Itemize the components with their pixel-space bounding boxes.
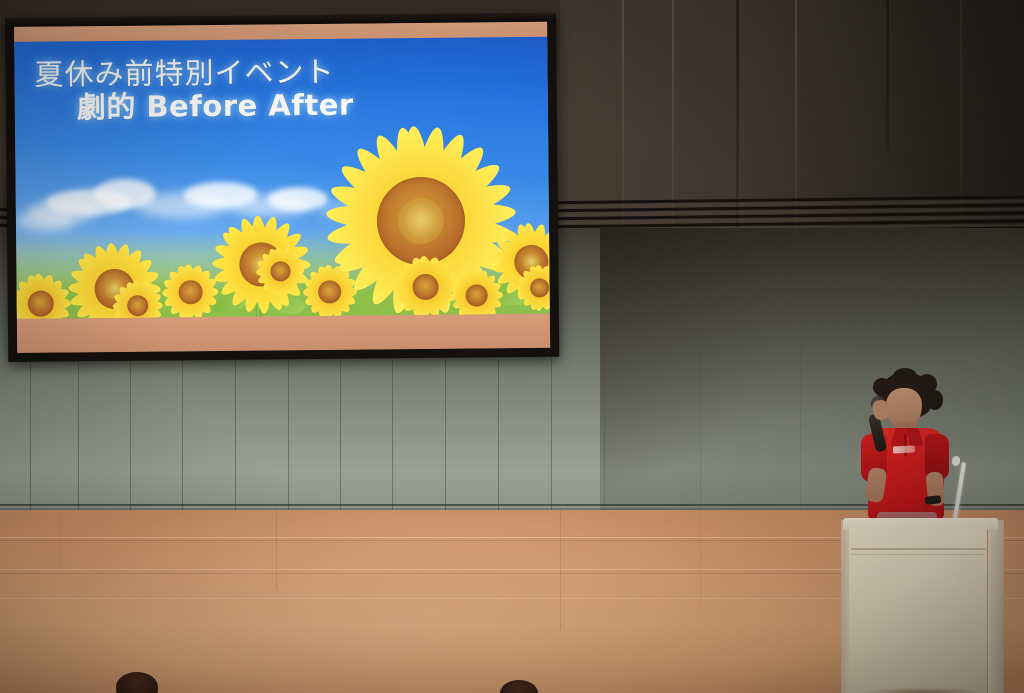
- presenter-wristwatch: [925, 495, 942, 505]
- sunflower-small: [14, 273, 71, 319]
- wall-seam: [235, 360, 236, 510]
- wall-seam: [340, 360, 341, 510]
- wall-seam: [622, 0, 624, 232]
- slide-title-block: 夏休み前特別イベント 劇的 Before After: [14, 55, 548, 126]
- sunflower-small: [302, 265, 357, 319]
- sunflower-small: [516, 265, 549, 311]
- hair-curl: [893, 368, 917, 384]
- presenter-shirt-logo: [893, 445, 915, 453]
- slide-bottom-band: [17, 314, 550, 353]
- sunflower-small: [162, 264, 219, 319]
- wall-seam: [78, 360, 79, 510]
- wall-seam: [288, 360, 289, 510]
- screen-image-area: 夏休み前特別イベント 劇的 Before After: [14, 22, 550, 353]
- stage-scene: 夏休み前特別イベント 劇的 Before After: [0, 0, 1024, 693]
- hair-curl: [873, 378, 891, 396]
- podium-shadow: [841, 687, 1004, 693]
- wall-seam: [604, 260, 605, 510]
- wall-seam: [498, 360, 499, 510]
- wall-seam: [700, 250, 701, 510]
- sunflower-small: [113, 280, 163, 318]
- sunflower-small: [394, 256, 457, 319]
- wall-seam: [795, 0, 797, 232]
- wall-seam: [886, 0, 889, 150]
- wall-seam: [130, 360, 131, 510]
- sunflower-disc-center: [398, 198, 444, 244]
- slide-title-line-1: 夏休み前特別イベント: [14, 55, 547, 91]
- wall-seam: [800, 250, 801, 510]
- sunflower-small: [450, 269, 502, 319]
- wall-seam: [736, 0, 739, 232]
- wall-seam: [672, 0, 674, 232]
- podium-groove: [851, 554, 985, 555]
- wall-seam: [392, 360, 393, 510]
- slide-title-line-2: 劇的 Before After: [15, 86, 548, 126]
- podium[interactable]: [841, 514, 1004, 693]
- podium-side-right: [988, 520, 1004, 693]
- projection-screen[interactable]: 夏休み前特別イベント 劇的 Before After: [5, 13, 559, 362]
- wall-seam: [182, 360, 183, 510]
- sunflower-small: [256, 247, 304, 295]
- wall-seam: [30, 360, 31, 510]
- podium-groove: [851, 548, 985, 550]
- cloud: [16, 209, 76, 232]
- wall-seam: [445, 360, 446, 510]
- hair-curl: [927, 390, 943, 410]
- slide-content: 夏休み前特別イベント 劇的 Before After: [14, 37, 550, 319]
